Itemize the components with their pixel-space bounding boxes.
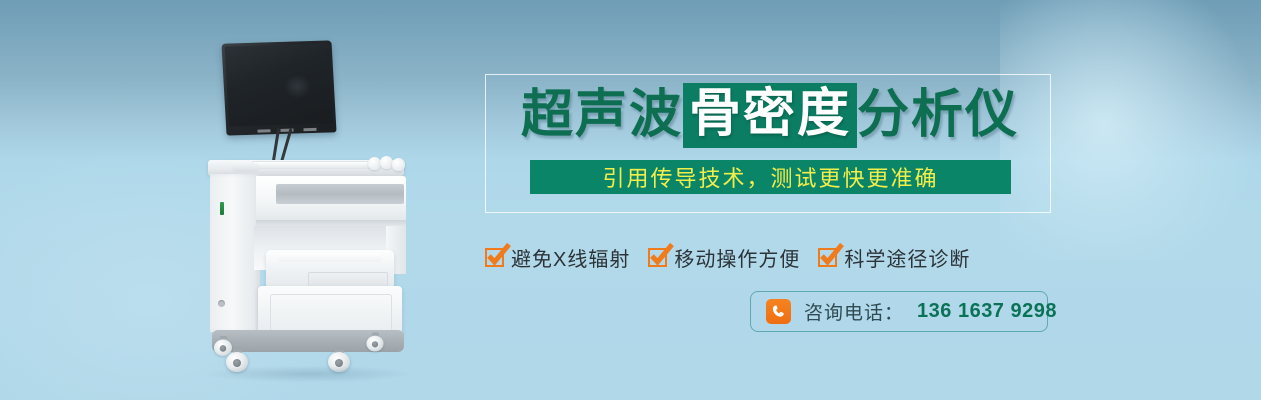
probe-3: [392, 158, 405, 171]
monitor-bezel: [221, 40, 336, 135]
cart-left-column: [210, 174, 260, 332]
caster-back-right: [366, 333, 383, 352]
check-square-icon: [818, 248, 837, 267]
printer-lid: [278, 253, 382, 262]
phone-label: 咨询电话：: [804, 298, 904, 325]
product-image-bone-densitometer-cart: [190, 30, 420, 370]
phone-handset-icon: [766, 299, 791, 324]
promo-banner: 超声波 骨密度 分析仪 引用传导技术，测试更快更准确 避免X线辐射 移动操作方便: [0, 0, 1261, 400]
monitor-screen: [225, 44, 333, 127]
power-led-indicator: [220, 202, 224, 215]
probe-2: [380, 156, 393, 169]
gel-cup: [232, 163, 260, 172]
title-segment-highlight: 骨密度: [683, 83, 857, 148]
banner-subtitle-text: 引用传导技术，测试更快更准确: [602, 161, 938, 193]
title-segment-1: 超声波: [521, 89, 683, 141]
keyboard-strip: [252, 161, 374, 169]
monitor: [221, 40, 336, 135]
side-port: [218, 300, 225, 307]
cart-shelf-grey-panel: [276, 184, 404, 204]
banner-title: 超声波 骨密度 分析仪: [500, 82, 1040, 148]
banner-subtitle-bar: 引用传导技术，测试更快更准确: [530, 160, 1011, 194]
feature-label-3: 科学途径诊断: [844, 243, 970, 272]
check-square-icon: [648, 248, 667, 267]
drawer-face: [270, 294, 392, 332]
feature-item-3: 科学途径诊断: [818, 243, 970, 272]
probe-holder: [368, 156, 406, 170]
product-ground-shadow: [208, 366, 408, 382]
contact-phone-box[interactable]: 咨询电话： 136 1637 9298: [750, 291, 1048, 332]
feature-item-2: 移动操作方便: [648, 243, 800, 272]
check-square-icon: [485, 248, 504, 267]
feature-label-1: 避免X线辐射: [511, 243, 630, 272]
feature-label-2: 移动操作方便: [674, 243, 800, 272]
caster-hub: [372, 341, 378, 347]
phone-number: 136 1637 9298: [917, 300, 1057, 323]
feature-item-1: 避免X线辐射: [485, 243, 630, 272]
title-segment-3: 分析仪: [857, 89, 1019, 141]
feature-list: 避免X线辐射 移动操作方便 科学途径诊断: [485, 240, 1065, 274]
